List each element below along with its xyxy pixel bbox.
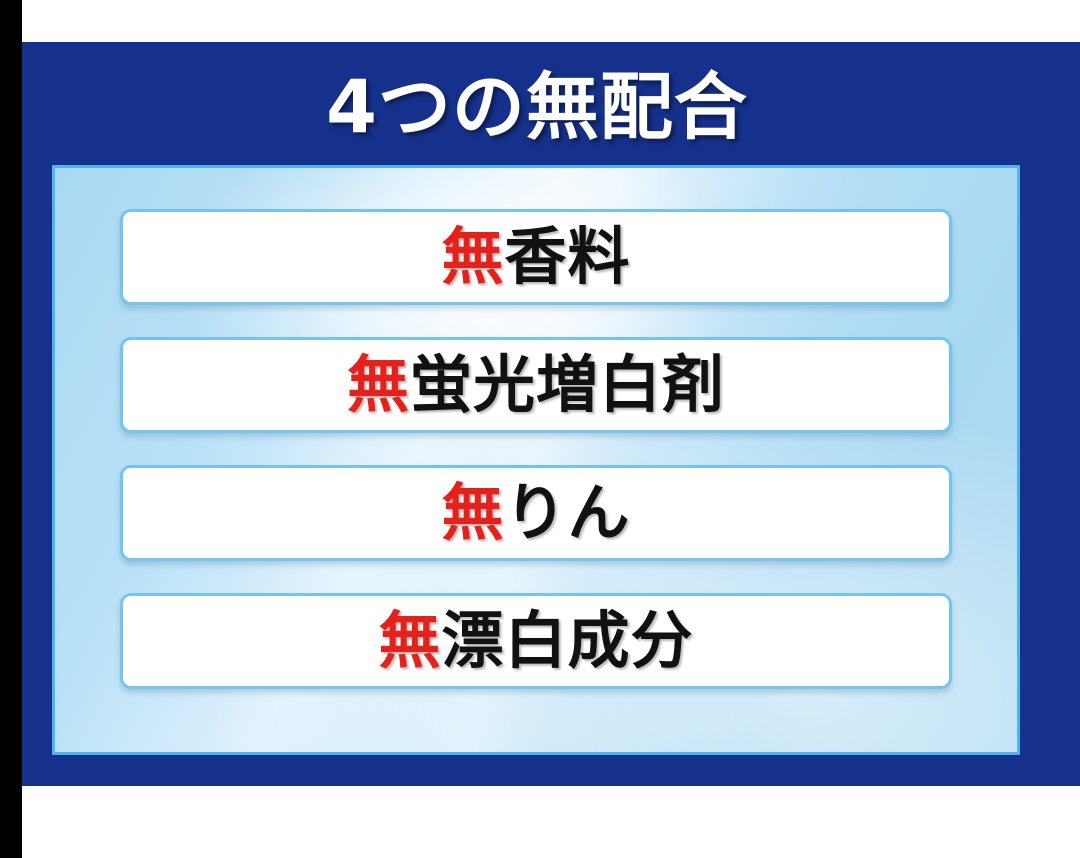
- feature-row-prefix: 無: [441, 220, 504, 293]
- feature-row-prefix: 無: [378, 604, 441, 677]
- feature-row-text: 無りん: [441, 482, 630, 544]
- feature-row-rest: 漂白成分: [442, 604, 694, 677]
- feature-row-rest: 蛍光増白剤: [410, 348, 725, 421]
- feature-row-text: 無漂白成分: [378, 610, 693, 672]
- page-title: 4つの無配合: [22, 53, 1052, 161]
- feature-row-prefix: 無: [441, 476, 504, 549]
- list-item: 無りん: [120, 465, 952, 561]
- feature-row-prefix: 無: [347, 348, 410, 421]
- list-item: 無漂白成分: [120, 593, 952, 689]
- feature-row-text: 無香料: [441, 226, 630, 288]
- feature-row-list: 無香料 無蛍光増白剤 無りん 無漂白成分: [55, 168, 1017, 752]
- promo-graphic-canvas: 4つの無配合 無香料 無蛍光増白剤 無りん 無漂白成分: [0, 0, 1080, 858]
- feature-row-rest: 香料: [505, 220, 631, 293]
- list-item: 無香料: [120, 209, 952, 305]
- feature-row-rest: りん: [505, 476, 631, 549]
- list-item: 無蛍光増白剤: [120, 337, 952, 433]
- feature-row-text: 無蛍光増白剤: [347, 354, 725, 416]
- left-black-edge: [0, 0, 22, 858]
- inner-light-blue-panel: 無香料 無蛍光増白剤 無りん 無漂白成分: [52, 165, 1020, 755]
